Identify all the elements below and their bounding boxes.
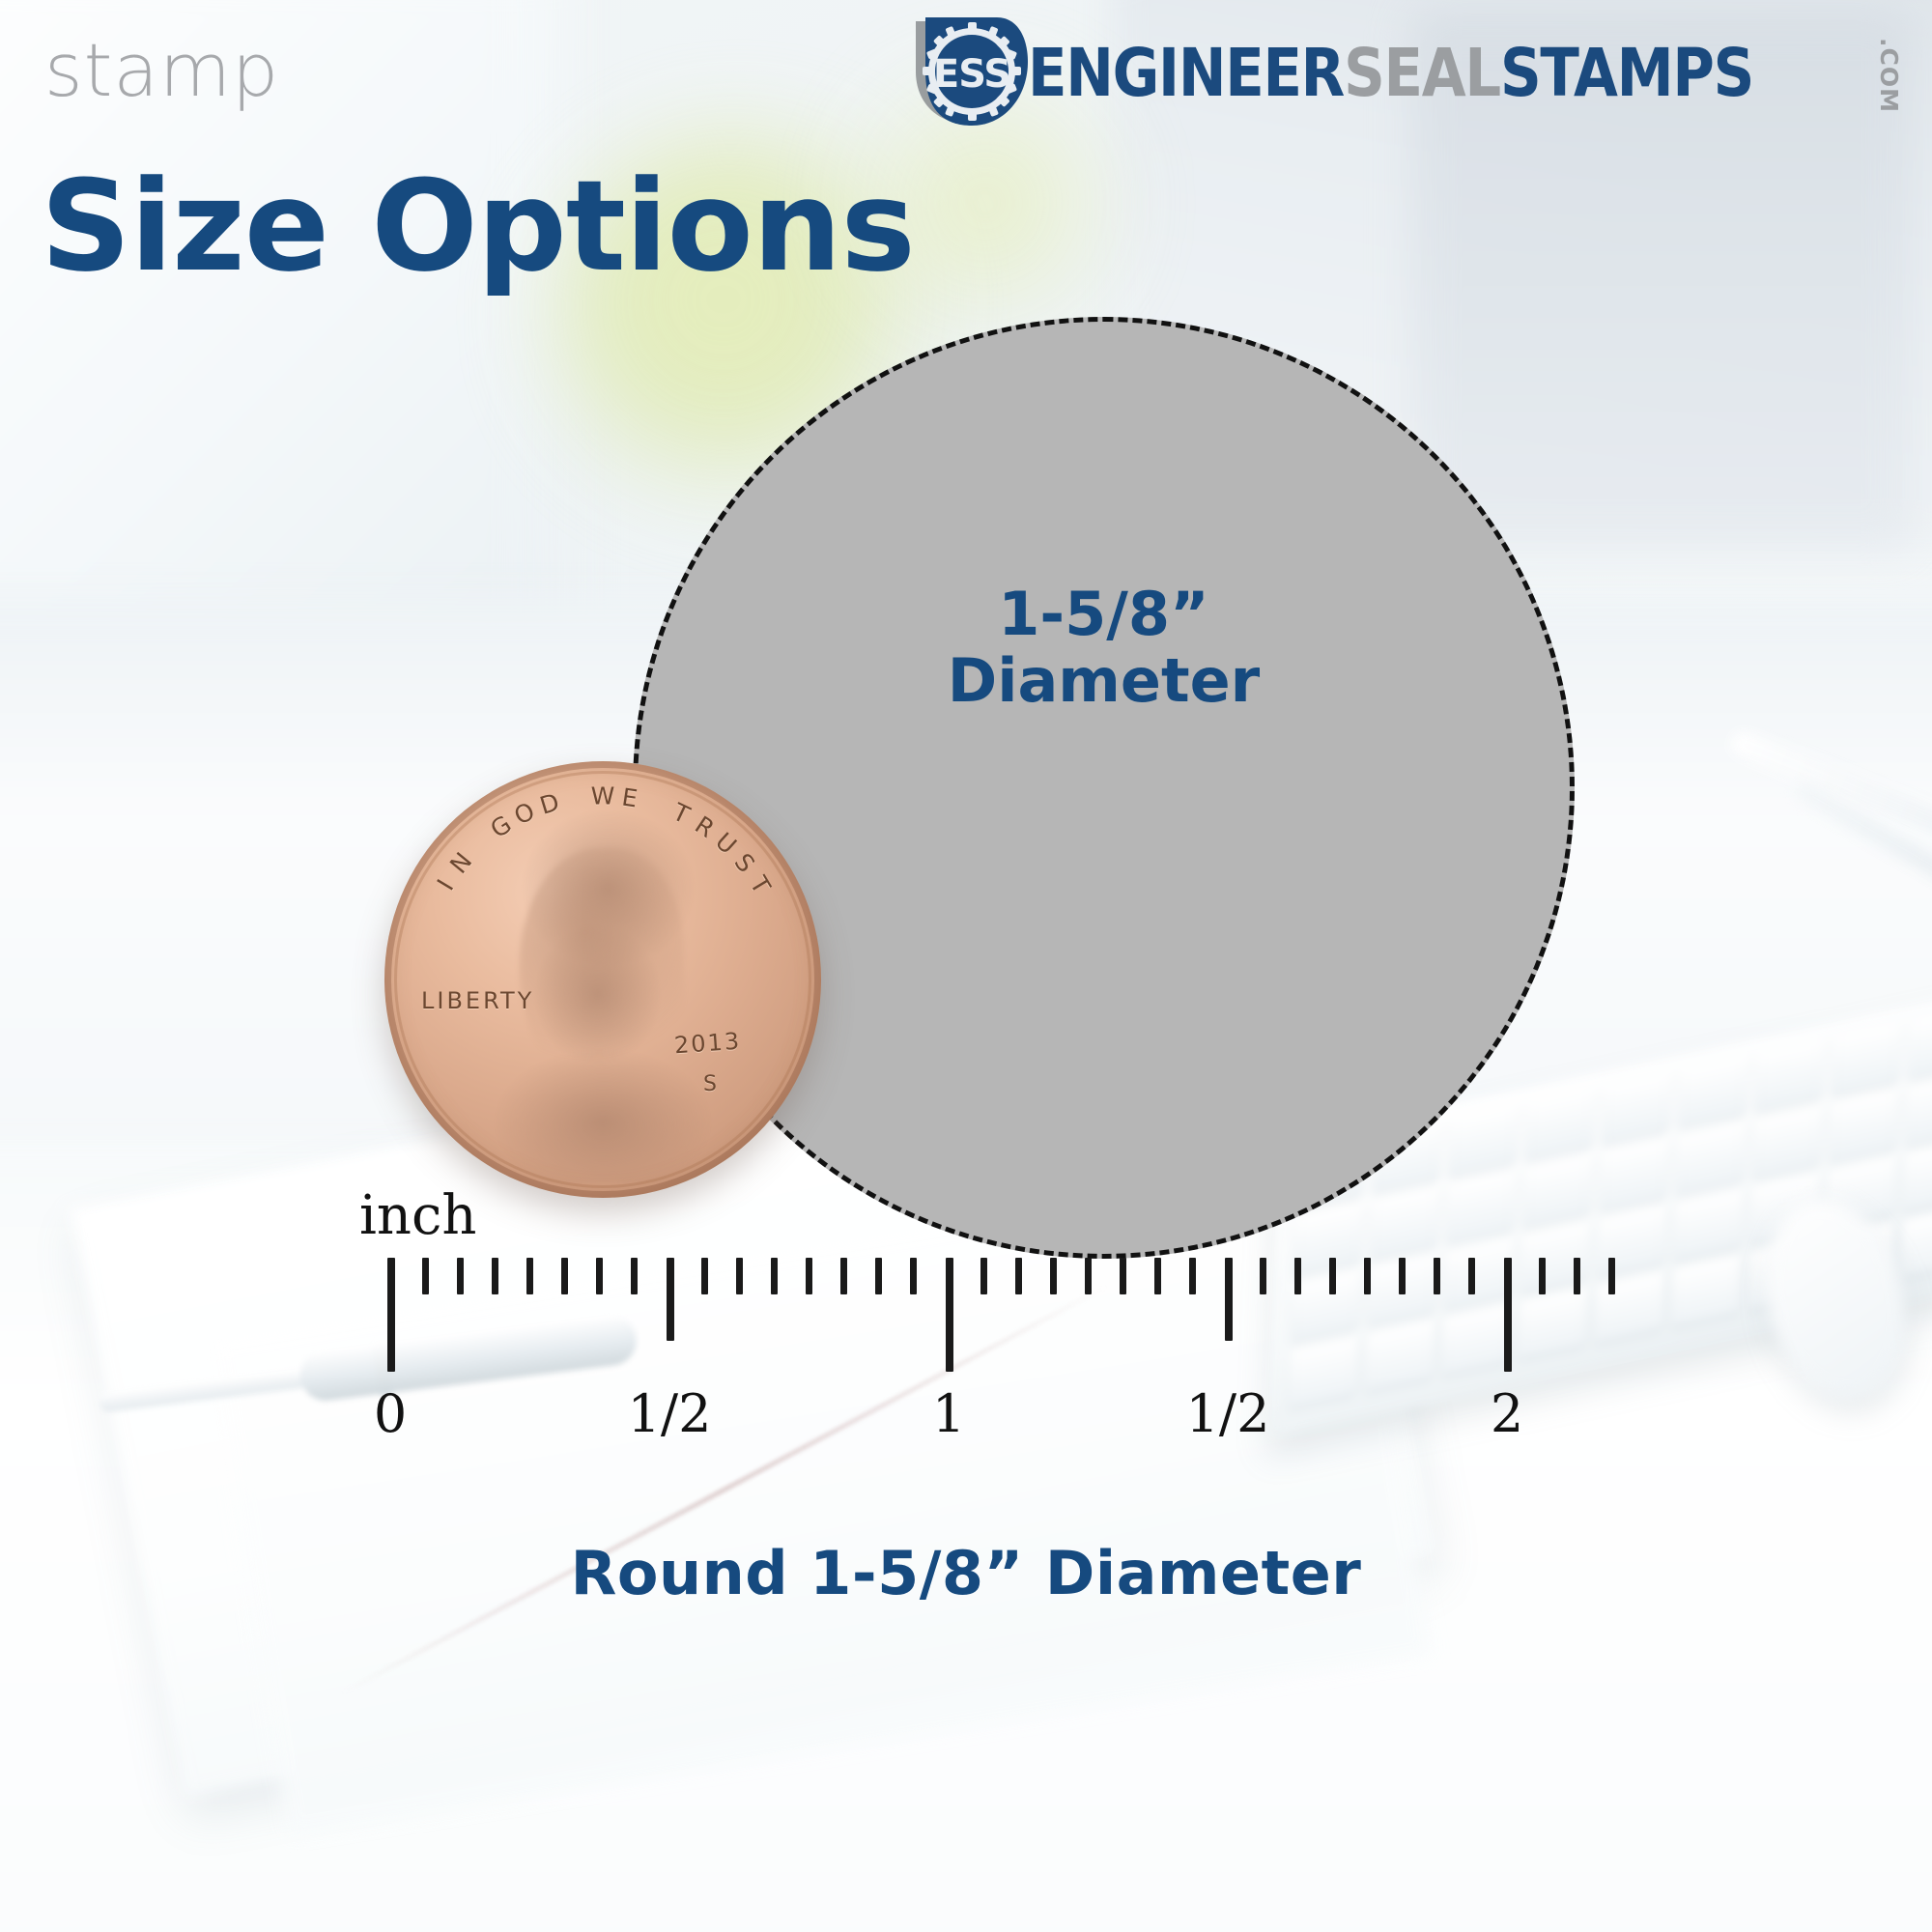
coin-mint-mark: S	[703, 1072, 719, 1096]
coin-motto-char: O	[510, 797, 539, 831]
coin-portrait-head	[520, 848, 684, 1090]
coin-motto-char: E	[620, 783, 639, 813]
stamp-size-value: 1-5/8”	[638, 581, 1570, 647]
logo-word-stamps: STAMPS	[1500, 41, 1753, 107]
coin-motto-char: N	[444, 847, 477, 879]
coin-motto-char: U	[710, 827, 742, 860]
brand-logo[interactable]: ESS	[904, 14, 1903, 133]
ess-gear-shield-icon: ESS	[904, 14, 1028, 133]
coin-liberty-text: LIBERTY	[421, 987, 534, 1014]
page-title: Size Options	[41, 153, 915, 299]
coin-portrait-relief	[473, 806, 732, 1182]
coin-motto-char: D	[536, 787, 562, 819]
ruler-unit-label: inch	[359, 1184, 476, 1247]
coin-motto-char: W	[591, 782, 615, 810]
reference-coin-penny: INGODWETRUST LIBERTY 2013 S	[384, 761, 821, 1198]
coin-motto-char: S	[729, 848, 760, 878]
logo-word-seal: SEAL	[1344, 41, 1500, 107]
svg-text:ESS: ESS	[933, 52, 1010, 97]
coin-motto-char: I	[432, 875, 460, 895]
stamp-size-unit: Diameter	[638, 647, 1570, 714]
logo-tld: .COM	[1875, 38, 1903, 113]
coin-motto-char: T	[744, 871, 776, 898]
brand-logo-wordmark: ENGINEERSEALSTAMPS	[1028, 41, 1753, 107]
logo-word-engineer: ENGINEER	[1028, 41, 1344, 107]
coin-motto-char: R	[690, 810, 720, 843]
stamp-wordmark: stamp	[44, 27, 279, 113]
stamp-size-label: 1-5/8” Diameter	[638, 581, 1570, 715]
coin-motto-char: G	[485, 810, 516, 844]
size-options-graphic: stamp Size Options ESS	[0, 0, 1932, 1932]
coin-motto-arc: INGODWETRUST	[384, 761, 821, 1198]
size-caption: Round 1-5/8” Diameter	[0, 1538, 1932, 1608]
coin-motto-char: T	[668, 798, 694, 830]
coin-year-text: 2013	[673, 1028, 742, 1060]
